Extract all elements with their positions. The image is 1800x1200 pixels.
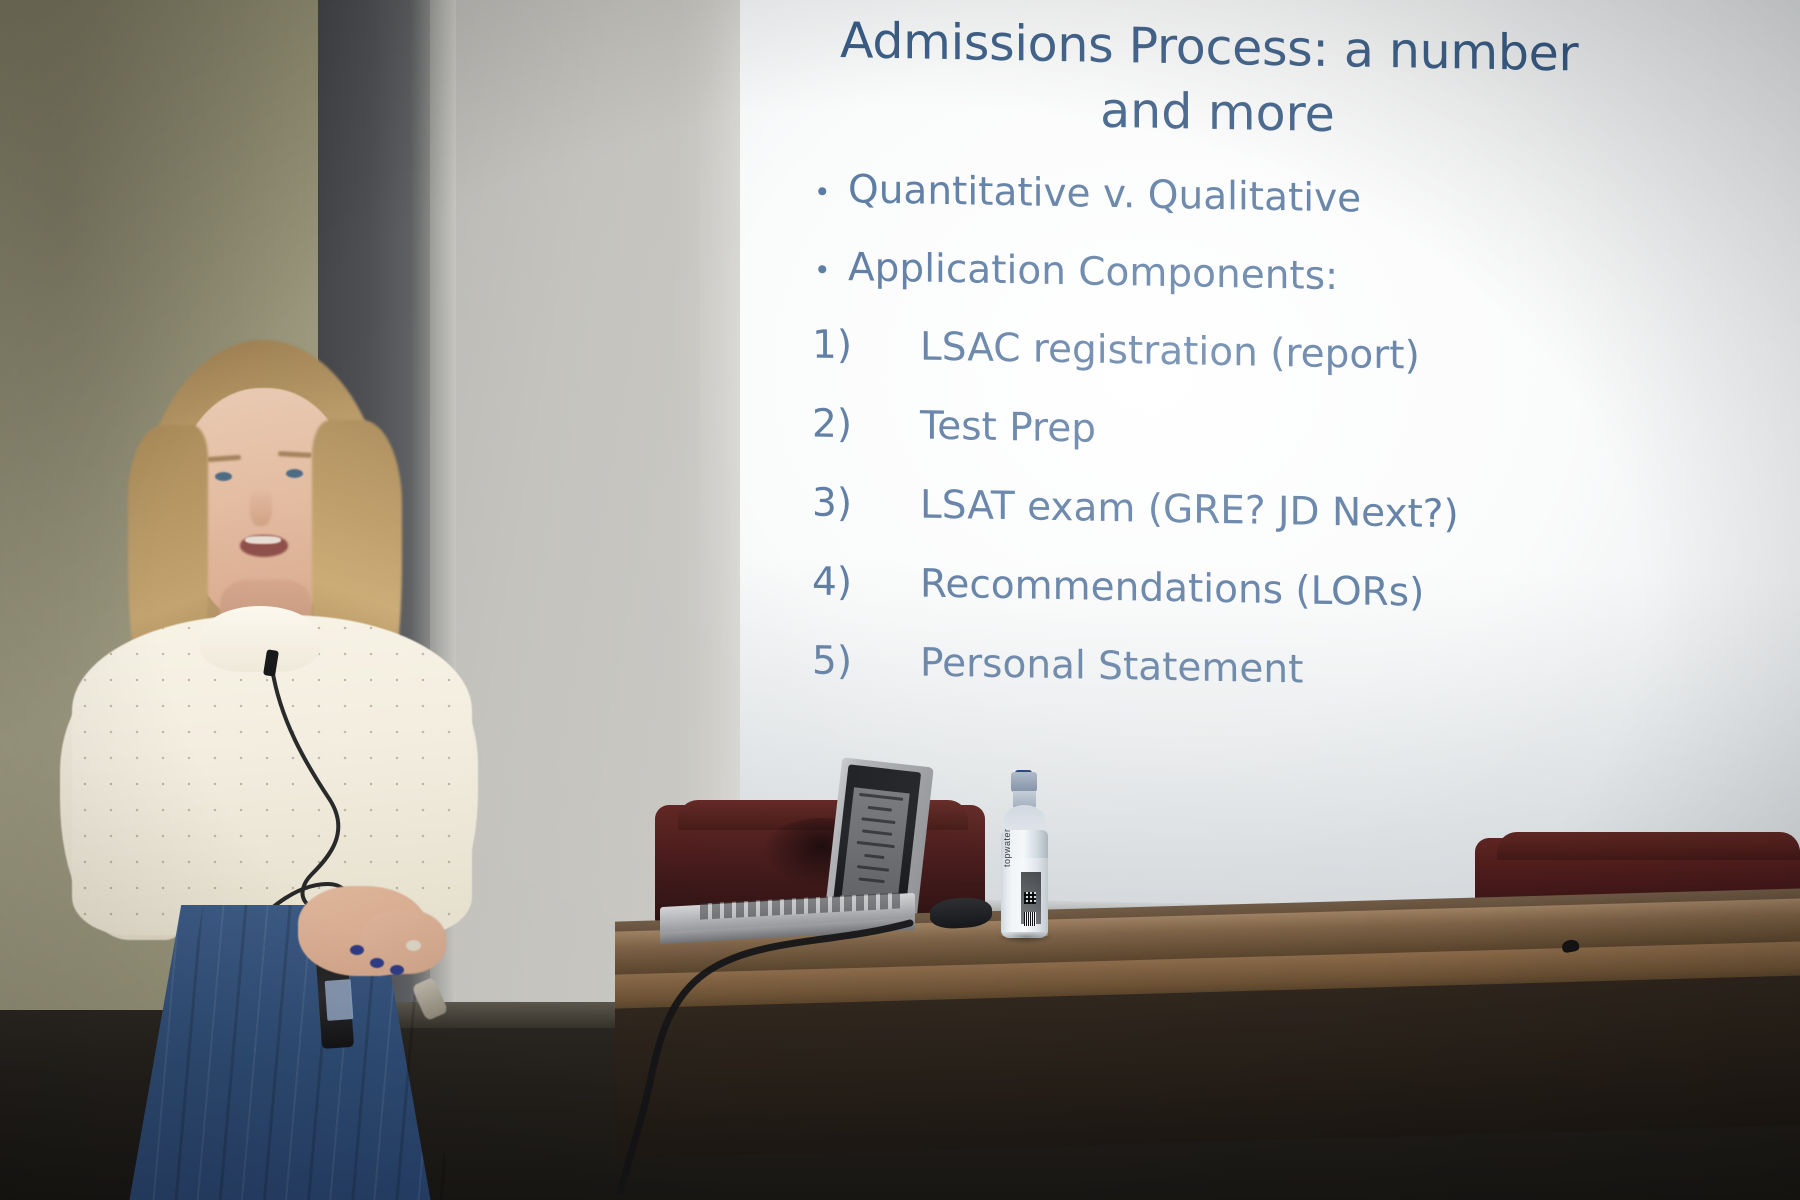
laptop-screen-line: [857, 865, 890, 872]
laptop-screen-line: [856, 841, 894, 848]
fingernail: [390, 965, 404, 975]
list-number: 2): [812, 404, 920, 445]
list-text: Test Prep: [920, 406, 1096, 448]
microphone-pack-label: [325, 979, 354, 1021]
qr-code-icon: [1024, 892, 1036, 904]
ring: [406, 940, 421, 951]
slide-numbered-item: 5) Personal Statement: [812, 641, 1800, 698]
list-number: 4): [812, 562, 920, 603]
list-text: LSAT exam (GRE? JD Next?): [920, 485, 1459, 534]
laptop-screen-line: [868, 806, 891, 812]
slide-bullet-text: Application Components:: [848, 248, 1338, 296]
list-number: 3): [812, 483, 920, 524]
list-number: 5): [812, 641, 920, 682]
list-number: 1): [812, 325, 920, 366]
slide-numbered-item: 2) Test Prep: [812, 404, 1800, 461]
list-text: Personal Statement: [920, 643, 1303, 689]
laptop-screen-line: [862, 829, 892, 835]
list-text: LSAC registration (report): [920, 327, 1420, 375]
slide-bullet-item: • Quantitative v. Qualitative: [814, 169, 1800, 226]
list-text: Recommendations (LORs): [920, 564, 1424, 612]
slide-numbered-item: 1) LSAC registration (report): [812, 325, 1800, 382]
laptop-screen-line: [861, 817, 896, 824]
slide-bullet-text: Quantitative v. Qualitative: [848, 170, 1361, 218]
fingernail: [350, 945, 364, 955]
nose: [250, 488, 272, 526]
laptop-screen-line: [865, 854, 884, 859]
slide-bullet-list: • Quantitative v. Qualitative • Applicat…: [740, 168, 1800, 305]
slide-numbered-item: 3) LSAT exam (GRE? JD Next?): [812, 483, 1800, 540]
power-cable: [580, 915, 930, 1195]
teeth: [245, 536, 281, 544]
chair-right-crest: [1497, 832, 1800, 860]
bottle-brand-text: topwater: [1002, 828, 1012, 867]
fingernail: [370, 958, 384, 968]
slide-numbered-item: 4) Recommendations (LORs): [812, 562, 1800, 619]
water-bottle[interactable]: topwater: [995, 772, 1053, 940]
bottle-shadow: [997, 932, 1053, 944]
barcode-icon: [1024, 912, 1036, 926]
eye-right: [286, 469, 303, 478]
bullet-dot-icon: •: [814, 256, 848, 285]
slide-bullet-item: • Application Components:: [814, 247, 1800, 304]
bullet-dot-icon: •: [814, 178, 848, 207]
laptop-screen-line: [860, 793, 903, 801]
presentation-photo-scene: Admissions Process: a number and more • …: [0, 0, 1800, 1200]
speaker-presenter: [60, 330, 480, 1090]
laptop-screen-line: [858, 877, 885, 883]
bottle-cap: [1011, 772, 1037, 792]
slide-numbered-list: 1) LSAC registration (report) 2) Test Pr…: [740, 324, 1800, 699]
eye-left: [215, 472, 232, 481]
